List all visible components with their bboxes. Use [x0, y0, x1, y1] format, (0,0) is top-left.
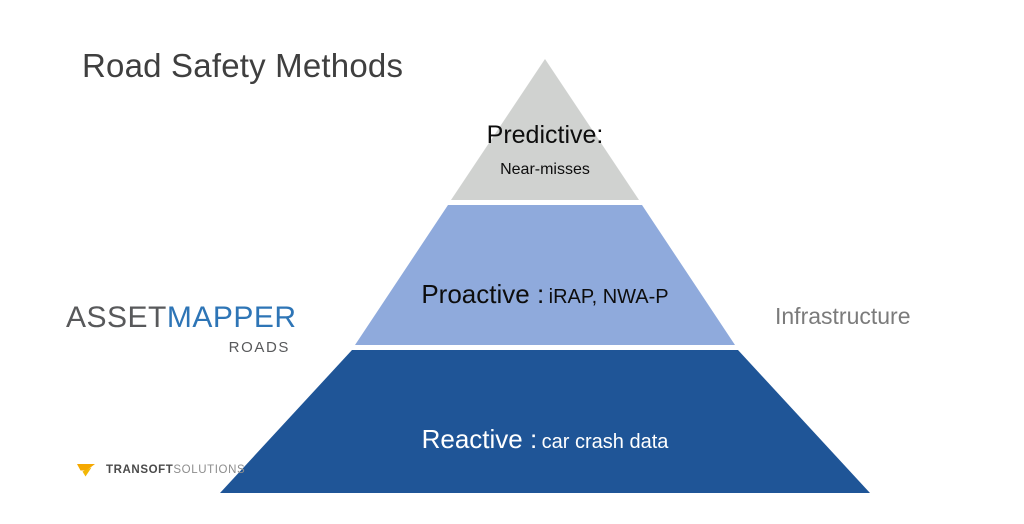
slide-canvas: Road Safety Methods Predictive: Near-mis…: [0, 0, 1024, 524]
tier-detail-predictive: Near-misses: [390, 161, 700, 179]
tier-label-reactive: Reactive : car crash data: [330, 425, 760, 454]
tier-heading-predictive: Predictive:: [487, 121, 604, 149]
assetmapper-wordmark: ASSETMAPPER: [66, 303, 290, 333]
page-title: Road Safety Methods: [82, 47, 403, 85]
tier-detail-reactive: car crash data: [542, 431, 669, 453]
tier-heading-reactive: Reactive :: [422, 424, 538, 454]
infrastructure-label: Infrastructure: [775, 303, 911, 330]
tier-heading-proactive: Proactive :: [421, 279, 544, 309]
transoft-solutions-word: SOLUTIONS: [173, 464, 245, 476]
arrow-mark-icon: [76, 461, 100, 479]
transoft-wordmark: TRANSOFTSOLUTIONS: [106, 464, 245, 476]
assetmapper-logo: ASSETMAPPER ROADS: [66, 303, 290, 356]
pyramid-tier-reactive: [220, 350, 870, 493]
transoft-logo: TRANSOFTSOLUTIONS: [76, 461, 245, 479]
tier-label-predictive: Predictive: Near-misses: [390, 122, 700, 178]
pyramid-tier-proactive: [355, 205, 735, 345]
transoft-name: TRANSOFT: [106, 464, 173, 476]
tier-label-proactive: Proactive : iRAP, NWA-P: [330, 280, 760, 309]
tier-detail-proactive: iRAP, NWA-P: [549, 286, 669, 308]
assetmapper-word-mapper: MAPPER: [167, 301, 297, 334]
assetmapper-word-asset: ASSET: [66, 301, 167, 334]
assetmapper-subtitle: ROADS: [66, 339, 290, 356]
